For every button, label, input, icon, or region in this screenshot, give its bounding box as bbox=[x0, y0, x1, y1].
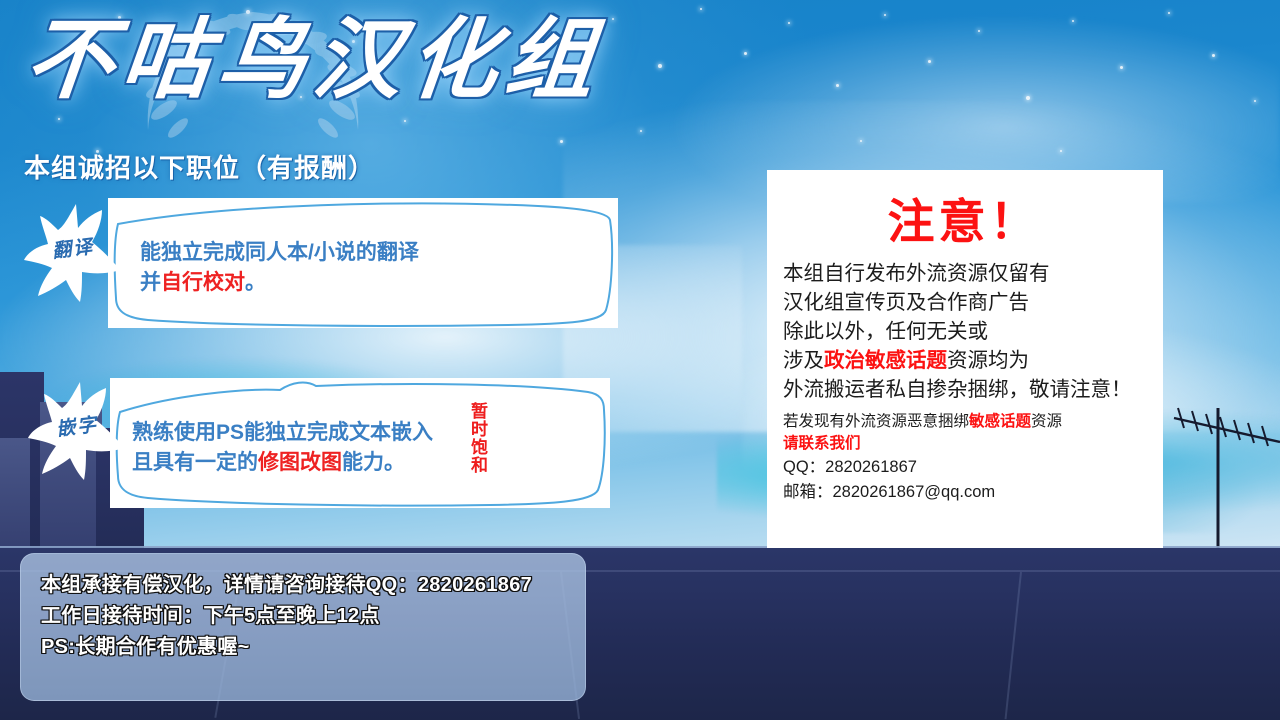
notice-small-prefix: 若发现有外流资源恶意捆绑 bbox=[783, 413, 969, 430]
notice-panel: 注意！ 本组自行发布外流资源仅留有 汉化组宣传页及合作商广告 除此以外，任何无关… bbox=[767, 170, 1163, 548]
tv-antenna-icon bbox=[1156, 396, 1280, 548]
position-line1: 熟练使用PS能独立完成文本嵌入 bbox=[132, 418, 433, 448]
notice-small-suffix: 资源 bbox=[1031, 413, 1062, 430]
footer-line-1: 本组承接有偿汉化，详情请咨询接待QQ：2820261867 bbox=[41, 570, 565, 601]
bird-badge-translation: 翻译 bbox=[18, 196, 138, 316]
bird-badge-label: 翻译 bbox=[51, 232, 96, 264]
footer-line-2: 工作日接待时间：下午5点至晚上12点 bbox=[41, 601, 565, 632]
notice-line-5: 外流搬运者私自掺杂捆绑，敬请注意！ bbox=[783, 375, 1145, 404]
position-text-translation: 能独立完成同人本/小说的翻译 并自行校对。 bbox=[140, 238, 419, 298]
qq-value[interactable]: 2820261867 bbox=[825, 458, 917, 476]
position-line2: 并自行校对。 bbox=[140, 268, 419, 298]
notice-small-highlight: 敏感话题 bbox=[969, 413, 1031, 430]
footer-line-3: PS:长期合作有优惠喔~ bbox=[41, 632, 565, 663]
qq-label: QQ： bbox=[783, 458, 825, 476]
qq-row: QQ：2820261867 bbox=[783, 455, 1145, 480]
email-label: 邮箱： bbox=[783, 483, 833, 501]
promo-banner: 不咕鸟汉化组 本组诚招以下职位（有报酬） 翻译 能独立完成同人本/小说的翻译 并… bbox=[0, 0, 1280, 720]
position-line1: 能独立完成同人本/小说的翻译 bbox=[140, 238, 419, 268]
notice-line-4-prefix: 涉及 bbox=[783, 349, 824, 372]
notice-line-1: 本组自行发布外流资源仅留有 bbox=[783, 259, 1145, 288]
notice-line-4-highlight: 政治敏感话题 bbox=[824, 349, 947, 372]
line2-prefix: 且具有一定的 bbox=[132, 451, 258, 474]
position-line2: 且具有一定的修图改图能力。 bbox=[132, 448, 433, 478]
bird-badge-typesetting: 嵌字 bbox=[22, 374, 142, 494]
notice-line-2: 汉化组宣传页及合作商广告 bbox=[783, 288, 1145, 317]
email-row: 邮箱：2820261867@qq.com bbox=[783, 480, 1145, 505]
notice-small-note: 若发现有外流资源恶意捆绑敏感话题资源 bbox=[783, 411, 1145, 433]
line2-highlight: 修图改图 bbox=[258, 451, 342, 474]
email-value[interactable]: 2820261867@qq.com bbox=[833, 483, 996, 501]
notice-title: 注意！ bbox=[783, 198, 1145, 245]
line2-suffix: 能力。 bbox=[342, 451, 405, 474]
position-text-typesetting: 熟练使用PS能独立完成文本嵌入 且具有一定的修图改图能力。 bbox=[132, 418, 433, 478]
laurel-wreath-icon bbox=[118, 6, 388, 146]
bird-badge-label: 嵌字 bbox=[55, 410, 100, 442]
status-badge-saturated: 暂时饱和 bbox=[468, 402, 487, 488]
page-subtitle: 本组诚招以下职位（有报酬） bbox=[24, 148, 375, 185]
line2-prefix: 并 bbox=[140, 271, 161, 294]
notice-line-4: 涉及政治敏感话题资源均为 bbox=[783, 346, 1145, 375]
notice-line-3: 除此以外，任何无关或 bbox=[783, 317, 1145, 346]
commission-info-box: 本组承接有偿汉化，详情请咨询接待QQ：2820261867 工作日接待时间：下午… bbox=[20, 553, 586, 701]
contact-us-label: 请联系我们 bbox=[783, 433, 1145, 455]
notice-line-4-suffix: 资源均为 bbox=[947, 349, 1029, 372]
line2-suffix: 。 bbox=[245, 271, 266, 294]
page-title: 不咕鸟汉化组 bbox=[21, 12, 607, 107]
line2-highlight: 自行校对 bbox=[161, 271, 245, 294]
